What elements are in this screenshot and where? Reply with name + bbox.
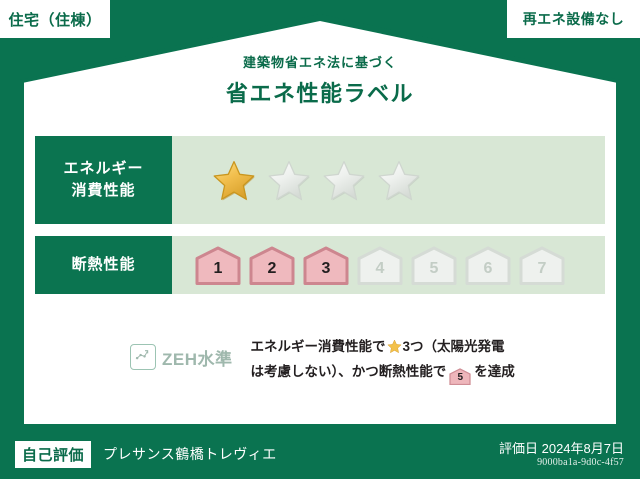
self-evaluation-badge: 自己評価 xyxy=(15,441,91,468)
star-empty-icon xyxy=(376,158,422,202)
footer: 自己評価 プレサンス鶴橋トレヴィエ 評価日 2024年8月7日 9000ba1a… xyxy=(0,430,640,479)
energy-performance-label: エネルギー 消費性能 xyxy=(35,136,172,224)
star-empty-icon xyxy=(321,158,367,202)
zeh-icon xyxy=(130,344,156,370)
inline-badge-value: 5 xyxy=(449,368,471,388)
renewable-equipment-tag: 再エネ設備なし xyxy=(507,0,640,38)
insulation-performance-label: 断熱性能 xyxy=(35,236,172,294)
insulation-level-value: 1 xyxy=(214,261,223,285)
energy-label-line1: エネルギー xyxy=(63,158,143,180)
star-empty-icon xyxy=(266,158,312,202)
insulation-level-value: 4 xyxy=(376,261,385,285)
insulation-level-badge: 7 xyxy=(518,245,566,285)
energy-performance-row: エネルギー 消費性能 xyxy=(35,136,605,224)
insulation-level-value: 7 xyxy=(538,261,547,285)
inline-insulation-badge: 5 xyxy=(449,368,471,385)
evaluation-date: 評価日 2024年8月7日 xyxy=(499,438,624,457)
insulation-performance-row: 断熱性能 1234567 xyxy=(35,236,605,294)
insulation-level-value: 6 xyxy=(484,261,493,285)
evaluation-id: 9000ba1a-9d0c-4f57 xyxy=(537,457,624,468)
insulation-level-badge: 6 xyxy=(464,245,512,285)
star-filled-icon xyxy=(211,158,257,202)
zeh-standard-mark: ZEH水準 xyxy=(130,336,233,370)
zeh-label: ZEH水準 xyxy=(162,345,233,370)
energy-performance-value xyxy=(172,136,605,224)
insulation-level-scale: 1234567 xyxy=(172,245,566,285)
insulation-performance-value: 1234567 xyxy=(172,236,605,294)
insulation-level-value: 2 xyxy=(268,261,277,285)
energy-label-line2: 消費性能 xyxy=(63,180,143,202)
note-line1-part1: エネルギー消費性能で xyxy=(251,339,386,354)
page-title: 省エネ性能ラベル xyxy=(0,76,640,108)
property-name: プレサンス鶴橋トレヴィエ xyxy=(103,444,277,464)
insulation-level-value: 5 xyxy=(430,261,439,285)
note-line2-part2: を達成 xyxy=(474,364,515,379)
note-line2-part1: は考慮しない）、かつ断熱性能で xyxy=(251,364,447,379)
insulation-level-badge: 2 xyxy=(248,245,296,285)
title-block: 建築物省エネ法に基づく 省エネ性能ラベル xyxy=(0,55,640,108)
inline-star-icon xyxy=(387,339,402,361)
energy-label-card: 住宅（住棟） 再エネ設備なし 建築物省エネ法に基づく 省エネ性能ラベル エネルギ… xyxy=(0,0,640,479)
insulation-level-badge: 5 xyxy=(410,245,458,285)
insulation-level-value: 3 xyxy=(322,261,331,285)
insulation-level-badge: 1 xyxy=(194,245,242,285)
insulation-level-badge: 3 xyxy=(302,245,350,285)
achievement-description: エネルギー消費性能で 3つ（太陽光発電 は考慮しない）、かつ断熱性能で 5 を達… xyxy=(251,336,515,385)
building-type-tag: 住宅（住棟） xyxy=(0,0,110,38)
title-subtitle: 建築物省エネ法に基づく xyxy=(0,55,640,72)
insulation-level-badge: 4 xyxy=(356,245,404,285)
zeh-note: ZEH水準 エネルギー消費性能で 3つ（太陽光発電 は考慮しない）、かつ断熱性能… xyxy=(130,336,600,385)
note-line1-part2: 3つ（太陽光発電 xyxy=(403,339,505,354)
star-rating xyxy=(172,158,422,202)
